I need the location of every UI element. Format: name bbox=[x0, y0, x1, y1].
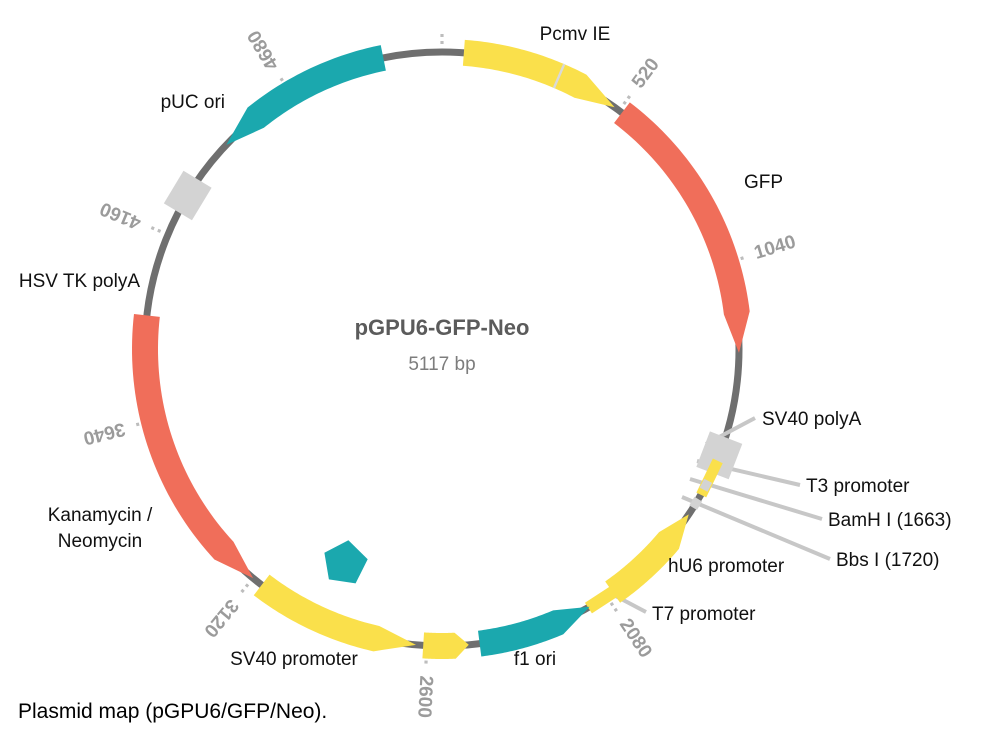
feature-label: f1 ori bbox=[514, 649, 556, 670]
tick-label-4680: 4680 bbox=[244, 26, 284, 73]
feature-shape[interactable] bbox=[614, 102, 750, 353]
tick-label-520: 520 bbox=[628, 54, 664, 92]
tick-label-3120: 3120 bbox=[199, 595, 242, 641]
feature-label: SV40 polyA bbox=[762, 409, 862, 430]
feature-sv40-promoter[interactable] bbox=[254, 575, 416, 652]
feature-label: HSV TK polyA bbox=[19, 271, 140, 292]
tick-3640: 3640 bbox=[81, 418, 146, 449]
plasmid-map-svg: 5201040208026003120364041604680 Pcmv IEG… bbox=[0, 0, 982, 744]
tick-label-3640: 3640 bbox=[81, 418, 127, 449]
figure-caption: Plasmid map (pGPU6/GFP/Neo). bbox=[18, 700, 327, 724]
tick-label-4160: 4160 bbox=[97, 197, 144, 233]
feature-label: T7 promoter bbox=[652, 604, 756, 625]
feature-label: Pcmv IE bbox=[540, 24, 611, 45]
feature-unlabeled-arrow[interactable] bbox=[422, 632, 468, 659]
tick-2600: 2600 bbox=[413, 654, 436, 719]
loose-marker-layer bbox=[324, 540, 367, 583]
feature-label: pUC ori bbox=[161, 92, 225, 113]
plasmid-name: pGPU6-GFP-Neo bbox=[355, 315, 530, 340]
feature-shape[interactable] bbox=[226, 45, 386, 145]
feature-label: T3 promoter bbox=[806, 476, 910, 497]
feature-kanamycin-neomycin[interactable] bbox=[132, 314, 253, 578]
feature-shape[interactable] bbox=[132, 314, 253, 578]
feature-hsv-tk-polya[interactable] bbox=[164, 171, 212, 220]
tick-label-2600: 2600 bbox=[413, 675, 436, 718]
feature-shape[interactable] bbox=[254, 575, 416, 652]
loose-pentagon-marker[interactable] bbox=[324, 540, 367, 583]
feature-label: SV40 promoter bbox=[230, 649, 358, 670]
tick-dash-520 bbox=[624, 93, 632, 104]
feature-arcs bbox=[132, 40, 750, 659]
leader-line bbox=[682, 497, 830, 559]
plasmid-map: 5201040208026003120364041604680 Pcmv IEG… bbox=[0, 0, 982, 744]
feature-pcmv-ie[interactable] bbox=[463, 40, 615, 107]
tick-3120: 3120 bbox=[199, 584, 248, 641]
feature-sv40-polya[interactable] bbox=[696, 431, 742, 479]
tick-2080: 2080 bbox=[611, 603, 656, 662]
feature-shape[interactable] bbox=[422, 632, 468, 659]
tick-1040: 1040 bbox=[734, 232, 798, 264]
feature-label: Kanamycin /Neomycin bbox=[48, 505, 153, 552]
feature-label: BamH I (1663) bbox=[828, 510, 952, 531]
tick-dash-3120 bbox=[239, 584, 248, 595]
feature-shape[interactable] bbox=[696, 431, 742, 479]
feature-labels: Pcmv IEGFPSV40 polyAT3 promoterBamH I (1… bbox=[19, 24, 952, 670]
tick-label-2080: 2080 bbox=[615, 615, 656, 662]
tick-dash-2080 bbox=[611, 603, 619, 615]
feature-shape[interactable] bbox=[463, 40, 615, 107]
tick-dash-4160 bbox=[148, 226, 161, 231]
tick-520: 520 bbox=[624, 54, 664, 104]
feature-gfp[interactable] bbox=[614, 102, 750, 353]
feature-puc-ori[interactable] bbox=[226, 45, 386, 145]
feature-label: Bbs I (1720) bbox=[836, 550, 940, 571]
feature-shape[interactable] bbox=[164, 171, 212, 220]
plasmid-size: 5117 bp bbox=[408, 354, 475, 375]
tick-label-1040: 1040 bbox=[752, 232, 799, 264]
feature-label: GFP bbox=[744, 172, 783, 193]
tick-4160: 4160 bbox=[97, 197, 161, 233]
tick-4680: 4680 bbox=[244, 26, 286, 86]
feature-label: hU6 promoter bbox=[668, 556, 785, 577]
